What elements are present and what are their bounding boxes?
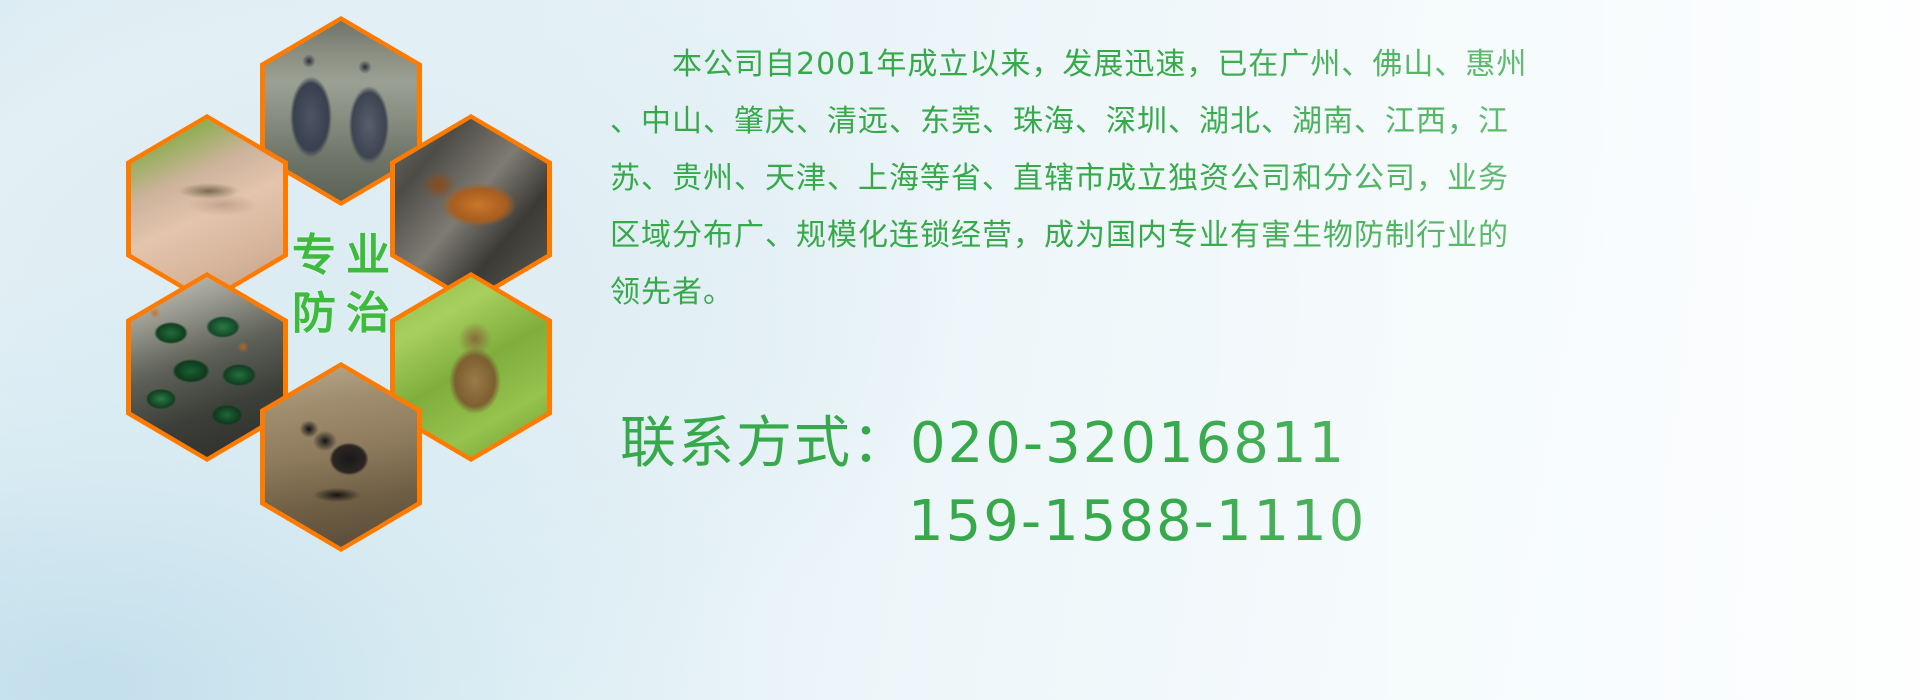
ant-photo-frame <box>265 367 417 547</box>
intro-line-3: 苏、贵州、天津、上海等省、直辖市成立独资公司和分公司，业务 <box>610 150 1910 207</box>
contact-phone-primary[interactable]: 联系方式：020-32016811 <box>620 405 1920 483</box>
ant-photo-image <box>265 367 417 547</box>
intro-line-4: 区域分布广、规模化连锁经营，成为国内专业有害生物防制行业的 <box>610 207 1910 264</box>
intro-paragraph: 本公司自2001年成立以来，发展迅速，已在广州、佛山、惠州 、中山、肇庆、清远、… <box>610 36 1910 321</box>
slogan-line-1: 专业 <box>282 234 400 278</box>
intro-line-1: 本公司自2001年成立以来，发展迅速，已在广州、佛山、惠州 <box>610 36 1910 93</box>
contact-phone-mobile[interactable]: 159-1588-1110 <box>620 483 1920 561</box>
hex-photo-collage: 专业 防治 <box>88 10 588 555</box>
intro-line-2: 、中山、肇庆、清远、东莞、珠海、深圳、湖北、湖南、江西，江 <box>610 93 1910 150</box>
contact-block: 联系方式：020-32016811 159-1588-1110 <box>620 405 1920 561</box>
slogan-line-2: 防治 <box>282 292 400 336</box>
intro-line-5: 领先者。 <box>610 264 1910 321</box>
promo-banner: 专业 防治 本公司自2001年成立以来，发展迅速，已在广州、佛山、惠州 、中山、… <box>0 0 1920 700</box>
